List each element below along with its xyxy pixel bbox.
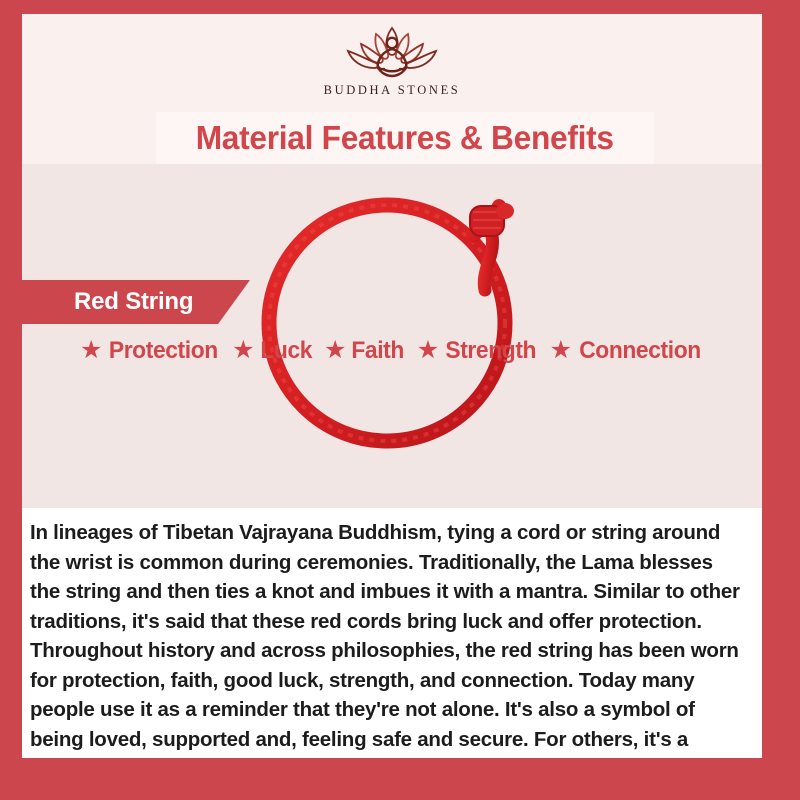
- features-list: ★ Protection ★ Luck ★ Faith ★ Strength ★…: [22, 330, 762, 372]
- feature-item-faith: ★ Faith: [324, 337, 406, 365]
- ribbon-label: Red String: [22, 288, 193, 316]
- title-banner: Material Features & Benefits: [156, 112, 654, 164]
- frame-border-left: [0, 0, 22, 800]
- feature-item-connection: ★ Connection: [550, 337, 704, 365]
- feature-label: Faith: [352, 337, 405, 365]
- frame-border-right: [762, 0, 800, 800]
- star-icon: ★: [324, 338, 346, 363]
- feature-label: Strength: [446, 337, 537, 365]
- frame-border-bottom: [0, 758, 800, 800]
- star-icon: ★: [232, 338, 254, 363]
- description-block: In lineages of Tibetan Vajrayana Buddhis…: [22, 508, 762, 758]
- content-panel: BUDDHA STONES Material Features & Benefi…: [22, 14, 762, 758]
- frame-border-top: [0, 0, 800, 14]
- infographic-canvas: BUDDHA STONES Material Features & Benefi…: [0, 0, 800, 800]
- star-icon: ★: [417, 338, 439, 363]
- feature-label: Connection: [579, 337, 701, 365]
- brand-name: BUDDHA STONES: [324, 83, 461, 98]
- feature-item-luck: ★ Luck: [232, 337, 313, 365]
- page-title: Material Features & Benefits: [196, 119, 614, 157]
- feature-item-protection: ★ Protection: [80, 337, 221, 365]
- feature-label: Protection: [109, 337, 218, 365]
- description-text: In lineages of Tibetan Vajrayana Buddhis…: [30, 518, 744, 758]
- brand-header: BUDDHA STONES: [22, 14, 762, 108]
- feature-label: Luck: [260, 337, 312, 365]
- star-icon: ★: [550, 338, 572, 363]
- star-icon: ★: [80, 338, 102, 363]
- product-name-ribbon: Red String: [22, 280, 250, 324]
- feature-item-strength: ★ Strength: [417, 337, 539, 365]
- lotus-meditation-figure-icon: [330, 18, 454, 82]
- red-braided-string-bracelet: [237, 178, 547, 450]
